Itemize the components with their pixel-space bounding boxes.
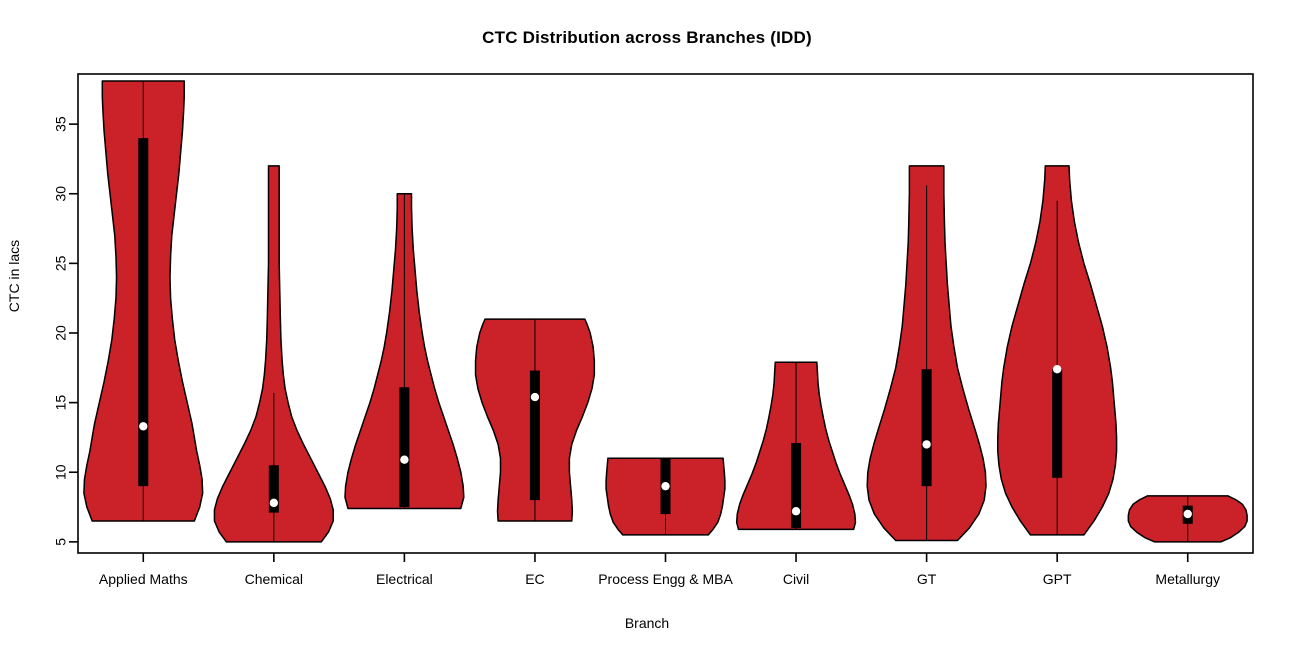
y-axis-tick-label: 10	[53, 464, 69, 480]
x-axis-tick-label-metallurgy: Metallurgy	[1155, 571, 1220, 587]
median-marker	[400, 456, 408, 464]
x-axis-tick-label-process-engg-mba: Process Engg & MBA	[598, 571, 733, 587]
violin-process-engg-mba	[606, 458, 725, 535]
median-marker	[531, 393, 539, 401]
median-marker	[270, 499, 278, 507]
interquartile-box	[138, 138, 148, 486]
y-axis-tick-label: 15	[53, 395, 69, 411]
violin-plot-figure: CTC Distribution across Branches (IDD) C…	[0, 0, 1294, 653]
median-marker	[922, 440, 930, 448]
violin-applied-maths	[84, 81, 203, 521]
x-axis-tick-label-electrical: Electrical	[376, 571, 433, 587]
y-axis-tick-label: 5	[53, 538, 69, 546]
x-axis-tick-label-chemical: Chemical	[245, 571, 303, 587]
violin-metallurgy	[1128, 496, 1247, 542]
median-marker	[139, 422, 147, 430]
median-marker	[661, 482, 669, 490]
median-marker	[1184, 510, 1192, 518]
y-axis-tick-label: 25	[53, 255, 69, 271]
violin-chemical	[214, 166, 333, 542]
interquartile-box	[1052, 369, 1062, 478]
violin-electrical	[345, 194, 464, 509]
interquartile-box	[922, 369, 932, 486]
x-axis-tick-label-gt: GT	[917, 571, 937, 587]
interquartile-box	[530, 371, 540, 500]
violin-gt	[867, 166, 986, 541]
interquartile-box	[399, 387, 409, 507]
x-axis-tick-label-applied-maths: Applied Maths	[99, 571, 188, 587]
y-axis-tick-label: 35	[53, 116, 69, 132]
median-marker	[1053, 365, 1061, 373]
median-marker	[792, 507, 800, 515]
x-axis-tick-label-civil: Civil	[783, 571, 809, 587]
violin-gpt	[998, 166, 1117, 535]
violin-ec	[476, 319, 595, 521]
y-axis-tick-label: 30	[53, 186, 69, 202]
plot-canvas: 5101520253035Applied MathsChemicalElectr…	[0, 0, 1294, 653]
violin-civil	[737, 362, 856, 529]
y-axis-tick-label: 20	[53, 325, 69, 341]
x-axis-tick-label-ec: EC	[525, 571, 544, 587]
x-axis-tick-label-gpt: GPT	[1043, 571, 1072, 587]
